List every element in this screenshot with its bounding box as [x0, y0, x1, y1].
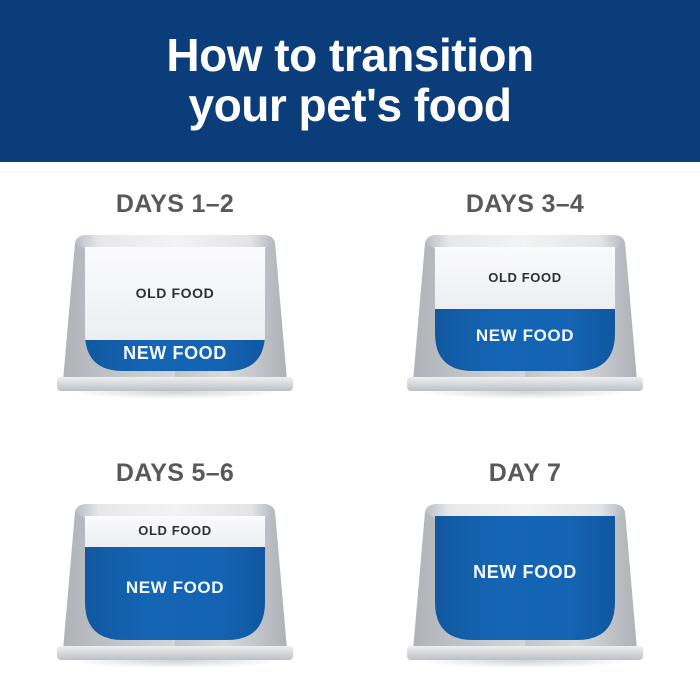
step-card-days-1-2: DAYS 1–2: [0, 162, 350, 431]
step-label: DAY 7: [489, 459, 561, 488]
step-card-days-5-6: DAYS 5–6 OLD FOOD NE: [0, 431, 350, 700]
step-card-day-7: DAY 7 NEW FOOD: [350, 431, 700, 700]
bowl-illustration: [49, 229, 301, 401]
step-card-days-3-4: DAYS 3–4 OLD FOOD NE: [350, 162, 700, 431]
food-bowl-days-5-6: OLD FOOD NEW FOOD: [49, 498, 301, 670]
step-label: DAYS 5–6: [116, 459, 234, 488]
bowl-illustration: [399, 229, 651, 401]
step-label: DAYS 1–2: [116, 190, 234, 219]
transition-steps-grid: DAYS 1–2: [0, 162, 700, 700]
header-banner: How to transition your pet's food: [0, 0, 700, 162]
food-bowl-day-7: NEW FOOD: [399, 498, 651, 670]
step-label: DAYS 3–4: [466, 190, 584, 219]
food-bowl-days-3-4: OLD FOOD NEW FOOD: [399, 229, 651, 401]
page-title: How to transition your pet's food: [126, 31, 573, 130]
food-bowl-days-1-2: OLD FOOD NEW FOOD: [49, 229, 301, 401]
bowl-illustration: [49, 498, 301, 670]
bowl-illustration: [399, 498, 651, 670]
